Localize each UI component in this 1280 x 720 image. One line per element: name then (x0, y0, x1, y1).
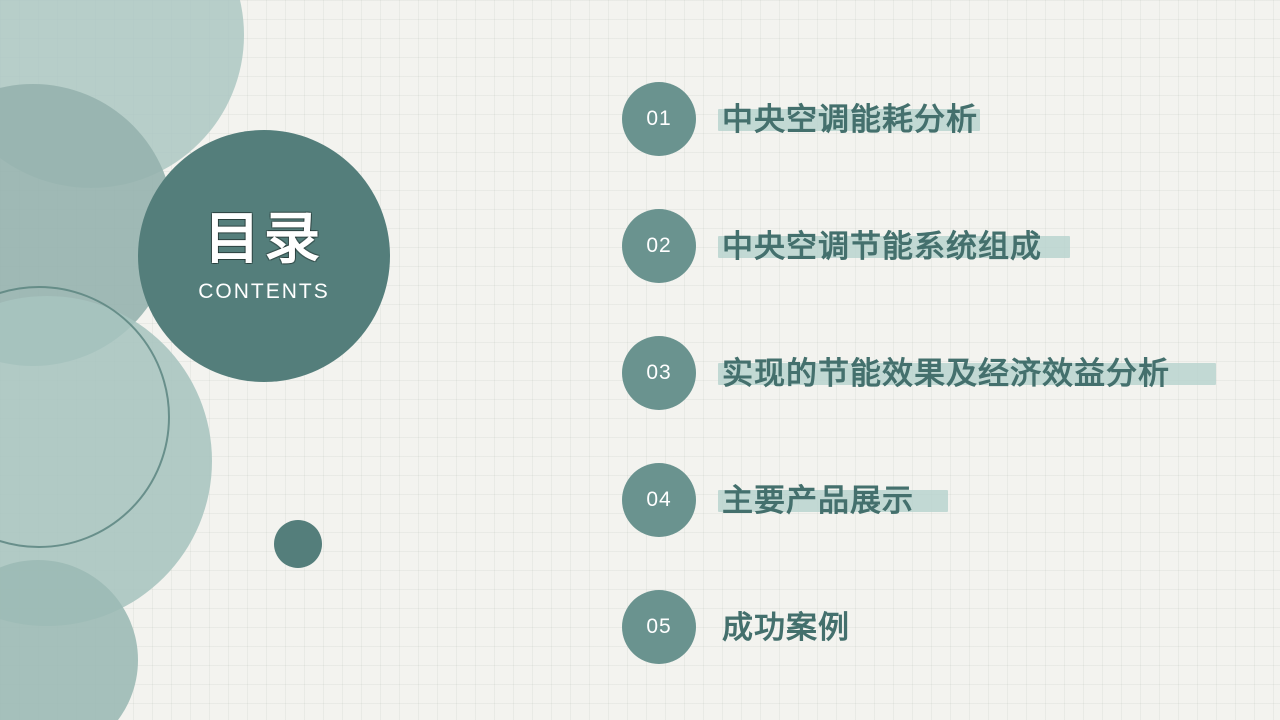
list-item[interactable]: 01 中央空调能耗分析 (622, 82, 1262, 156)
page-title: 目录 (204, 211, 324, 267)
toc-label: 实现的节能效果及经济效益分析 (722, 356, 1170, 391)
page-subtitle: CONTENTS (198, 281, 330, 302)
slide-canvas: 目录 CONTENTS 01 中央空调能耗分析 02 中央空调节能系统组成 03… (0, 0, 1280, 720)
toc-number-badge: 02 (622, 209, 696, 283)
toc-label-wrap: 实现的节能效果及经济效益分析 (722, 358, 1170, 389)
toc-label-wrap: 主要产品展示 (722, 485, 914, 516)
toc-number-badge: 03 (622, 336, 696, 410)
toc-label: 主要产品展示 (722, 483, 914, 518)
toc-label-wrap: 成功案例 (722, 612, 850, 643)
contents-list: 01 中央空调能耗分析 02 中央空调节能系统组成 03 实现的节能效果及经济效… (622, 82, 1262, 664)
contents-title-circle: 目录 CONTENTS (138, 130, 390, 382)
toc-number-badge: 05 (622, 590, 696, 664)
toc-label: 中央空调节能系统组成 (722, 229, 1042, 264)
toc-label: 中央空调能耗分析 (722, 102, 978, 137)
decorative-circle-small-dot (274, 520, 322, 568)
toc-label-wrap: 中央空调能耗分析 (722, 104, 978, 135)
toc-number-badge: 01 (622, 82, 696, 156)
list-item[interactable]: 03 实现的节能效果及经济效益分析 (622, 336, 1262, 410)
toc-number-badge: 04 (622, 463, 696, 537)
toc-label-wrap: 中央空调节能系统组成 (722, 231, 1042, 262)
list-item[interactable]: 04 主要产品展示 (622, 463, 1262, 537)
toc-label: 成功案例 (722, 610, 850, 645)
list-item[interactable]: 02 中央空调节能系统组成 (622, 209, 1262, 283)
list-item[interactable]: 05 成功案例 (622, 590, 1262, 664)
